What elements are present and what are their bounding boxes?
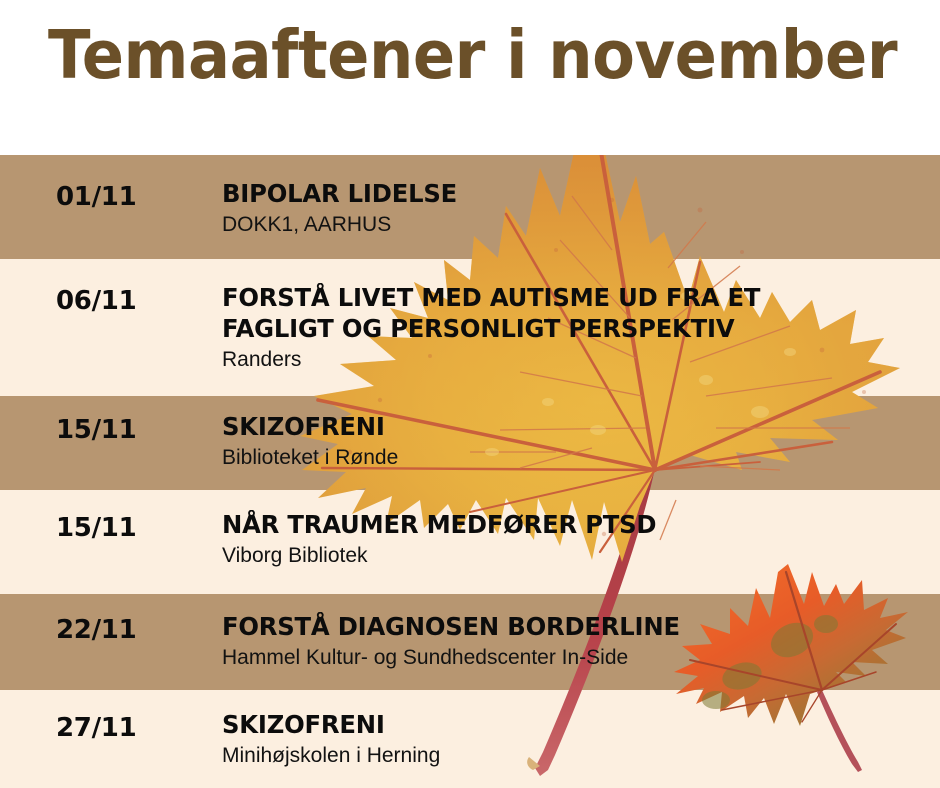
event-row[interactable]: 22/11 FORSTÅ DIAGNOSEN BORDERLINE Hammel…: [0, 594, 940, 690]
event-body: FORSTÅ DIAGNOSEN BORDERLINE Hammel Kultu…: [222, 611, 940, 671]
event-title: BIPOLAR LIDELSE: [222, 178, 918, 209]
event-title: FORSTÅ DIAGNOSEN BORDERLINE: [222, 611, 918, 642]
event-body: SKIZOFRENI Minihøjskolen i Herning: [222, 709, 940, 769]
event-title: SKIZOFRENI: [222, 411, 918, 442]
event-venue: Randers: [222, 347, 940, 373]
event-row[interactable]: 27/11 SKIZOFRENI Minihøjskolen i Herning: [0, 690, 940, 788]
event-venue: DOKK1, AARHUS: [222, 212, 940, 238]
event-title: FORSTÅ LIVET MED AUTISME UD FRA ET FAGLI…: [222, 282, 918, 344]
event-row[interactable]: 15/11 NÅR TRAUMER MEDFØRER PTSD Viborg B…: [0, 490, 940, 594]
event-body: FORSTÅ LIVET MED AUTISME UD FRA ET FAGLI…: [222, 282, 940, 373]
event-date: 06/11: [56, 286, 136, 316]
event-date: 15/11: [56, 415, 136, 445]
event-list: 01/11 BIPOLAR LIDELSE DOKK1, AARHUS 06/1…: [0, 155, 940, 788]
page-title: Temaaftener i november: [48, 22, 897, 89]
event-venue: Viborg Bibliotek: [222, 543, 940, 569]
event-row[interactable]: 15/11 SKIZOFRENI Biblioteket i Rønde: [0, 396, 940, 490]
event-date: 15/11: [56, 513, 136, 543]
event-venue: Hammel Kultur- og Sundhedscenter In-Side: [222, 645, 940, 671]
event-body: BIPOLAR LIDELSE DOKK1, AARHUS: [222, 178, 940, 238]
event-row[interactable]: 01/11 BIPOLAR LIDELSE DOKK1, AARHUS: [0, 155, 940, 259]
event-venue: Minihøjskolen i Herning: [222, 743, 940, 769]
event-date: 22/11: [56, 615, 136, 645]
title-area: Temaaftener i november: [0, 0, 940, 155]
poster-canvas: Temaaftener i november 01/11 BIPOLAR LID…: [0, 0, 940, 788]
event-body: SKIZOFRENI Biblioteket i Rønde: [222, 411, 940, 471]
event-date: 01/11: [56, 182, 136, 212]
event-row[interactable]: 06/11 FORSTÅ LIVET MED AUTISME UD FRA ET…: [0, 259, 940, 396]
event-title: NÅR TRAUMER MEDFØRER PTSD: [222, 509, 918, 540]
event-title: SKIZOFRENI: [222, 709, 918, 740]
event-body: NÅR TRAUMER MEDFØRER PTSD Viborg Bibliot…: [222, 509, 940, 569]
event-date: 27/11: [56, 713, 136, 743]
event-venue: Biblioteket i Rønde: [222, 445, 940, 471]
